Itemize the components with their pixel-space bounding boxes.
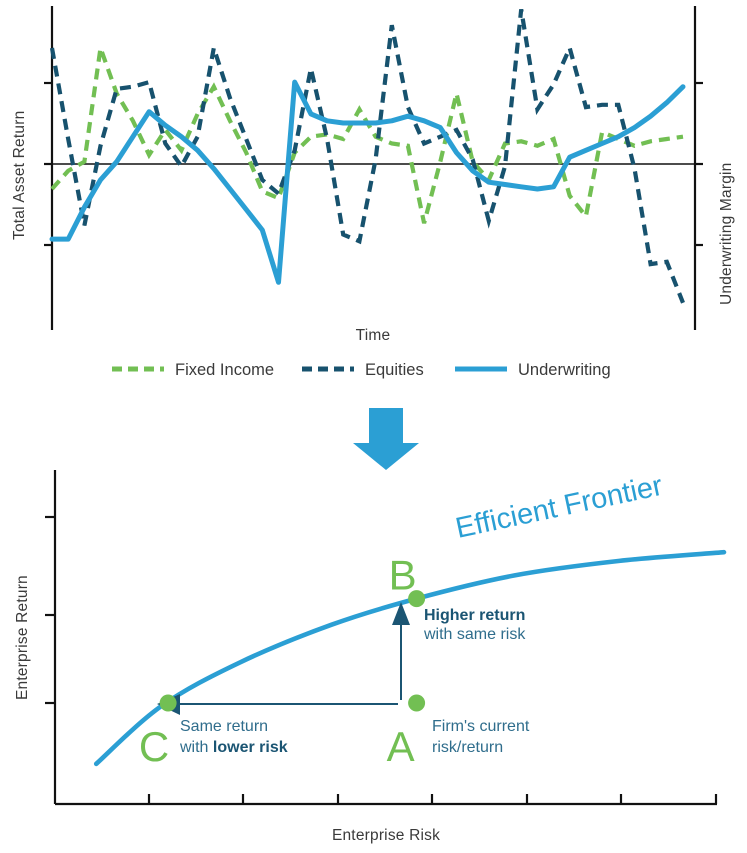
marker-point-c[interactable] [160, 695, 177, 712]
bottom-chart-xlabel: Enterprise Risk [332, 827, 440, 844]
efficient-frontier-figure: Total Asset Return Underwriting Margin T… [0, 0, 747, 853]
point-label-b: B [389, 552, 417, 599]
series-underwriting [52, 82, 683, 282]
annotation-a-line2: risk/return [432, 739, 503, 756]
efficient-frontier-label: Efficient Frontier [453, 470, 666, 545]
bottom-chart-ylabel: Enterprise Return [14, 575, 31, 700]
legend-label-underwriting: Underwriting [518, 361, 611, 379]
legend-label-equities: Equities [365, 361, 424, 379]
annotation-c-line2: with lower risk [179, 739, 288, 756]
point-label-c: C [139, 723, 169, 770]
top-chart: Total Asset Return Underwriting Margin T… [11, 6, 735, 344]
top-chart-legend: Fixed Income Equities Underwriting [112, 361, 611, 379]
legend-item-equities[interactable]: Equities [302, 361, 424, 379]
legend-item-underwriting[interactable]: Underwriting [455, 361, 611, 379]
annotation-b-line1: Higher return [424, 607, 525, 624]
legend-item-fixed-income[interactable]: Fixed Income [112, 361, 274, 379]
legend-label-fixed-income: Fixed Income [175, 361, 274, 379]
series-fixed-income [52, 48, 683, 223]
top-chart-xlabel: Time [356, 327, 391, 344]
series-equities [52, 9, 683, 303]
bottom-chart: B C A Higher return with same risk Same … [14, 470, 724, 844]
marker-point-a[interactable] [408, 695, 425, 712]
arrow-a-to-b [392, 602, 410, 700]
point-label-a: A [387, 723, 415, 770]
down-arrow-icon [353, 408, 419, 470]
top-chart-ylabel-left: Total Asset Return [11, 111, 28, 240]
annotation-b-line2: with same risk [423, 626, 526, 643]
annotation-c-line2-bold: lower risk [213, 739, 288, 756]
arrow-a-to-c [157, 694, 398, 715]
annotation-a-line1: Firm's current [432, 718, 530, 735]
annotation-c-line2-prefix: with [179, 739, 213, 756]
top-chart-ylabel-right: Underwriting Margin [718, 163, 735, 306]
annotation-c-line1: Same return [180, 718, 268, 735]
